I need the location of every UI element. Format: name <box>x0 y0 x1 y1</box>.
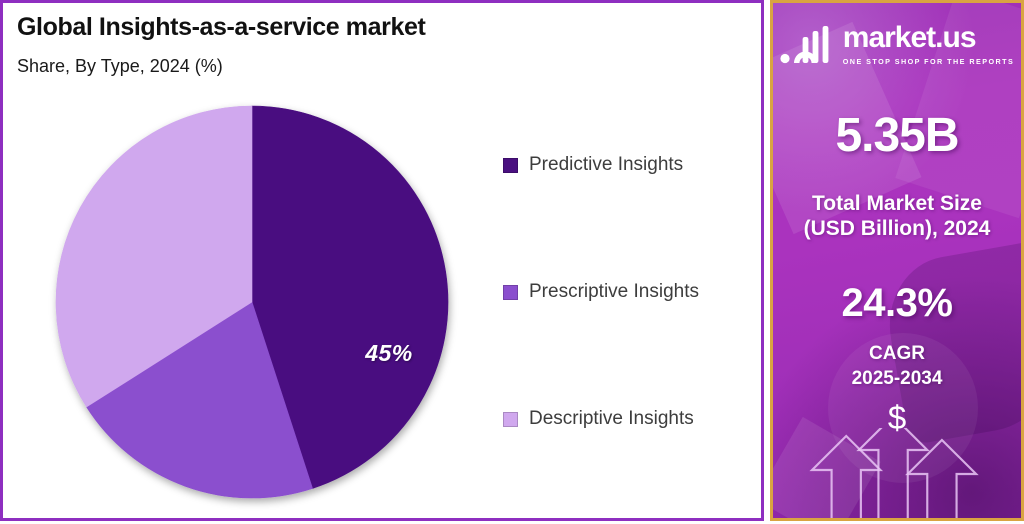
legend-item-predictive-insights[interactable]: Predictive Insights <box>503 143 753 187</box>
cagr-caption-line1: CAGR <box>773 343 1021 365</box>
market-size-caption-line2: (USD Billion), 2024 <box>773 217 1021 241</box>
cagr-caption-line2: 2025-2034 <box>773 368 1021 390</box>
brand-logo: market.us ONE STOP SHOP FOR THE REPORTS <box>773 23 1021 66</box>
legend-label: Predictive Insights <box>529 154 683 176</box>
cagr-value: 24.3% <box>773 281 1021 326</box>
market-size-caption-line1: Total Market Size <box>773 192 1021 216</box>
infographic-root: Global Insights-as-a-service market Shar… <box>0 0 1024 521</box>
pie-slices <box>56 106 448 498</box>
pie-chart-svg <box>43 95 463 515</box>
market-size-value: 5.35B <box>773 108 1021 163</box>
legend-label: Prescriptive Insights <box>529 281 699 303</box>
chart-subtitle: Share, By Type, 2024 (%) <box>17 56 223 77</box>
legend-swatch-icon <box>503 158 518 173</box>
pie-slice-data-label: 45% <box>339 340 439 367</box>
logo-name: market.us <box>843 23 1014 53</box>
legend-item-descriptive-insights[interactable]: Descriptive Insights <box>503 397 753 441</box>
pie-chart: 45% <box>43 95 463 515</box>
legend-label: Descriptive Insights <box>529 408 694 430</box>
chart-legend: Predictive Insights Prescriptive Insight… <box>503 143 753 524</box>
legend-swatch-icon <box>503 285 518 300</box>
legend-swatch-icon <box>503 412 518 427</box>
logo-text: market.us ONE STOP SHOP FOR THE REPORTS <box>843 23 1014 66</box>
logo-tagline: ONE STOP SHOP FOR THE REPORTS <box>843 57 1014 66</box>
market-us-logo-icon <box>780 25 834 65</box>
legend-item-prescriptive-insights[interactable]: Prescriptive Insights <box>503 270 753 314</box>
page-title: Global Insights-as-a-service market <box>17 13 425 42</box>
growth-arrows-icon <box>773 428 1021 518</box>
stat-panel: market.us ONE STOP SHOP FOR THE REPORTS … <box>770 0 1024 521</box>
chart-panel: Global Insights-as-a-service market Shar… <box>0 0 764 521</box>
